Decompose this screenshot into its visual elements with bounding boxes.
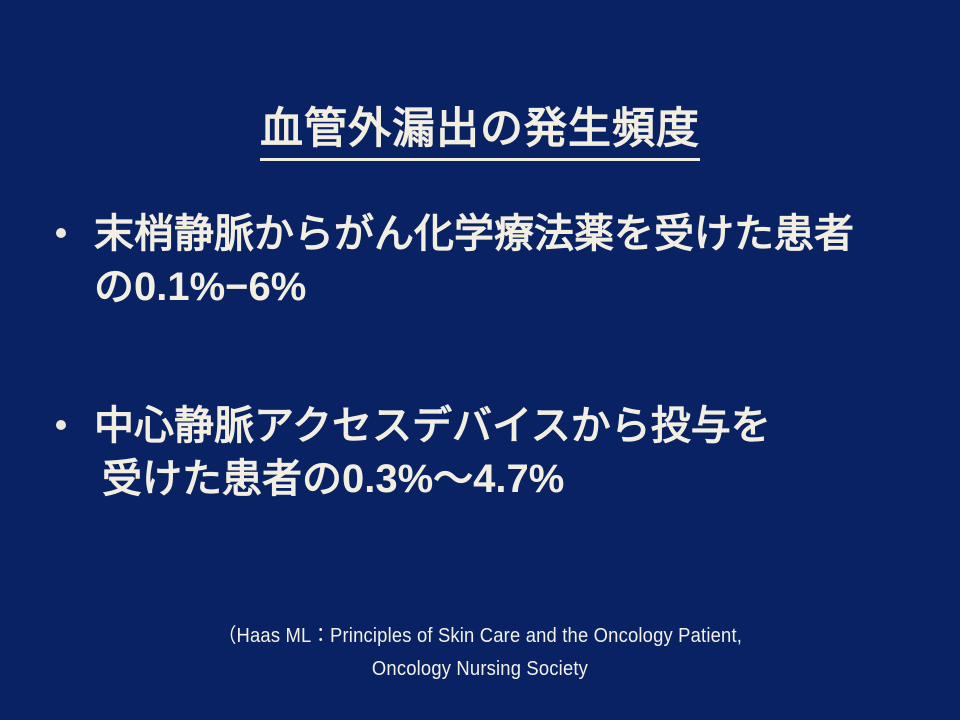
bullet-item-2-body: 中心静脈アクセスデバイスから投与を 受けた患者の0.3%～4.7% xyxy=(94,400,928,506)
slide-title-container: 血管外漏出の発生頻度 xyxy=(0,104,960,161)
bullet-item-1-line-2: の0.1%−6% xyxy=(94,261,928,314)
bullet-item-2: 中心静脈アクセスデバイスから投与を 受けた患者の0.3%～4.7% xyxy=(48,400,928,506)
bullet-item-1-line-1: 末梢静脈からがん化学療法薬を受けた患者 xyxy=(94,208,928,261)
bullet-item-1-body: 末梢静脈からがん化学療法薬を受けた患者 の0.1%−6% xyxy=(94,208,928,314)
bullet-item-1: 末梢静脈からがん化学療法薬を受けた患者 の0.1%−6% xyxy=(48,208,928,314)
citation-line-1: （Haas ML：Principles of Skin Care and the… xyxy=(38,620,921,653)
bullet-list: 末梢静脈からがん化学療法薬を受けた患者 の0.1%−6% 中心静脈アクセスデバイ… xyxy=(48,208,928,506)
bullet-item-2-line-2: 受けた患者の0.3%～4.7% xyxy=(94,453,928,506)
slide-title: 血管外漏出の発生頻度 xyxy=(260,104,700,161)
bullet-dot-icon xyxy=(56,420,66,430)
bullet-item-2-line-1: 中心静脈アクセスデバイスから投与を xyxy=(94,400,928,453)
presentation-slide: 血管外漏出の発生頻度 末梢静脈からがん化学療法薬を受けた患者 の0.1%−6% … xyxy=(0,0,960,720)
bullet-dot-icon xyxy=(56,228,66,238)
source-citation: （Haas ML：Principles of Skin Care and the… xyxy=(38,620,921,686)
citation-line-2: Oncology Nursing Society xyxy=(38,653,921,686)
